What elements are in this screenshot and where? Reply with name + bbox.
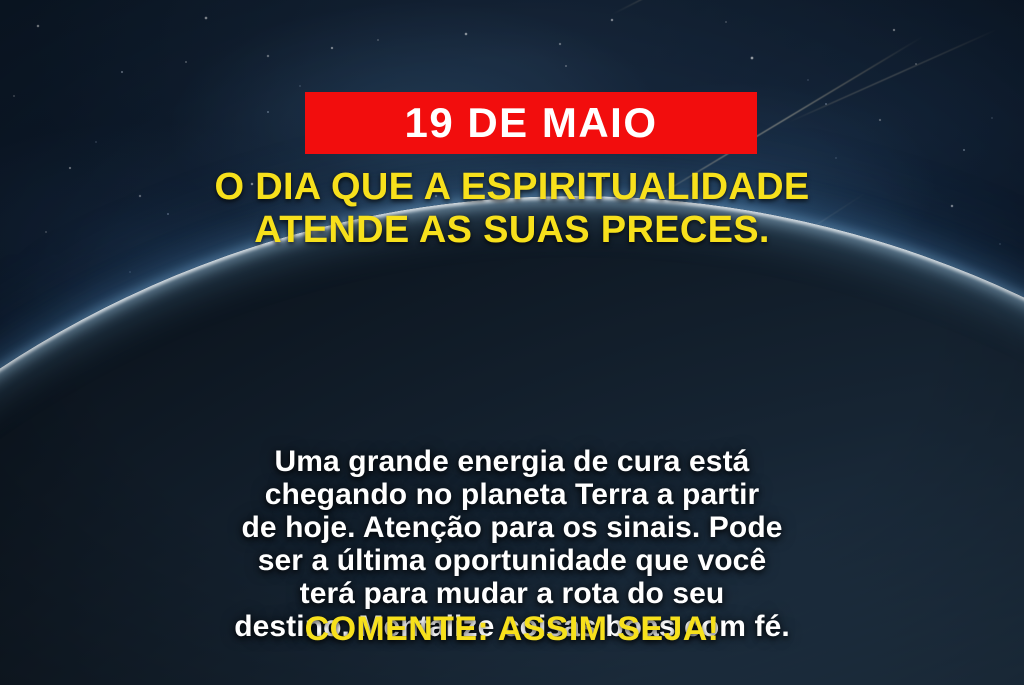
date-banner-label: 19 DE MAIO	[404, 102, 657, 144]
body-copy-line-5: terá para mudar a rota do seu	[40, 577, 984, 610]
body-copy-line-1: Uma grande energia de cura está	[40, 445, 984, 478]
body-copy-line-4: ser a última oportunidade que você	[40, 544, 984, 577]
call-to-action-text: COMENTE: ASSIM SEJA!	[0, 612, 1024, 646]
body-copy-line-2: chegando no planeta Terra a partir	[40, 478, 984, 511]
date-banner: 19 DE MAIO	[305, 92, 757, 154]
headline-line-2: ATENDE AS SUAS PRECES.	[40, 209, 984, 252]
poster-canvas: 19 DE MAIO O DIA QUE A ESPIRITUALIDADE A…	[0, 0, 1024, 685]
body-copy-line-3: de hoje. Atenção para os sinais. Pode	[40, 511, 984, 544]
headline: O DIA QUE A ESPIRITUALIDADE ATENDE AS SU…	[0, 166, 1024, 253]
headline-line-1: O DIA QUE A ESPIRITUALIDADE	[40, 166, 984, 209]
poster-content: 19 DE MAIO O DIA QUE A ESPIRITUALIDADE A…	[0, 0, 1024, 685]
